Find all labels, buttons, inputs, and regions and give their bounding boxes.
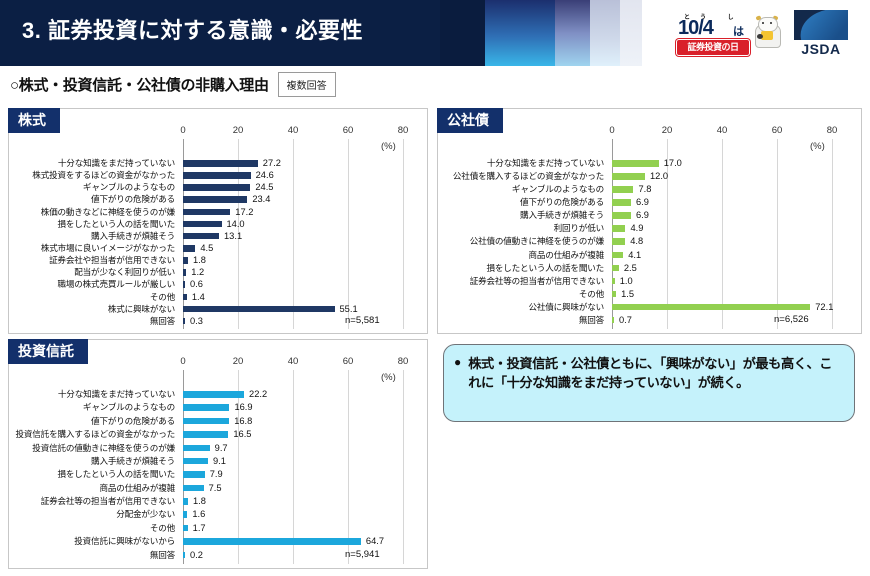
bar bbox=[183, 172, 251, 179]
bar-value-label: 1.2 bbox=[191, 266, 204, 278]
bar-value-label: 1.8 bbox=[193, 495, 206, 507]
bar-category-label: 公社債の値動きに神経を使うのが嫌 bbox=[470, 235, 604, 247]
section-subtitle: ○株式・投資信託・公社債の非購入理由 bbox=[10, 74, 269, 95]
bar-row: 損をしたという人の話を聞いた7.9 bbox=[9, 468, 427, 480]
summary-bullet-icon: ● bbox=[454, 354, 461, 412]
bar-row: 損をしたという人の話を聞いた2.5 bbox=[438, 262, 861, 274]
bar-row: 証券会社等の担当者が信用できない1.8 bbox=[9, 495, 427, 507]
bar-row: ギャンブルのようなもの16.9 bbox=[9, 401, 427, 413]
bar-row: 投資信託に興味がないから64.7 bbox=[9, 535, 427, 547]
bar-value-label: 4.9 bbox=[630, 222, 643, 234]
x-axis-tick-40: 40 bbox=[288, 356, 299, 367]
bar bbox=[183, 418, 229, 425]
bar-value-label: 7.9 bbox=[210, 468, 223, 480]
bar-category-label: 商品の仕組みが複雑 bbox=[528, 249, 604, 261]
bar-row: 公社債を購入するほどの資金がなかった12.0 bbox=[438, 170, 861, 182]
chart-area-stock: 020406080(%)十分な知識をまだ持っていない27.2株式投資をするほどの… bbox=[9, 109, 427, 333]
bar-row: 配当が少なく利回りが低い1.2 bbox=[9, 266, 427, 278]
bar bbox=[183, 404, 229, 411]
bar-value-label: 0.3 bbox=[190, 315, 203, 327]
chart-area-bond: 020406080(%)十分な知識をまだ持っていない17.0公社債を購入するほど… bbox=[438, 109, 861, 333]
summary-callout: ● 株式・投資信託・公社債ともに、「興味がない」が最も高く、これに「十分な知識を… bbox=[443, 344, 855, 422]
chart-area-trust: 020406080(%)十分な知識をまだ持っていない22.2ギャンブルのようなも… bbox=[9, 340, 427, 568]
bar-value-label: 0.7 bbox=[619, 314, 632, 326]
bar-value-label: 13.1 bbox=[224, 230, 242, 242]
section-subtitle-row: ○株式・投資信託・公社債の非購入理由 複数回答 bbox=[10, 72, 336, 97]
bar-category-label: 利回りが低い bbox=[554, 222, 604, 234]
bar bbox=[183, 160, 258, 167]
x-axis-unit-label: (%) bbox=[381, 372, 396, 383]
bar-category-label: 損をしたという人の話を聞いた bbox=[486, 262, 604, 274]
bar bbox=[612, 304, 810, 311]
bar-category-label: 公社債に興味がない bbox=[528, 301, 604, 313]
bar-category-label: 証券会社等の担当者が信用できない bbox=[470, 275, 604, 287]
x-axis-tick-60: 60 bbox=[772, 125, 783, 136]
bar-category-label: その他 bbox=[150, 291, 175, 303]
bar bbox=[183, 471, 205, 478]
bar-category-label: 無回答 bbox=[579, 314, 604, 326]
bar-category-label: 損をしたという人の話を聞いた bbox=[57, 468, 175, 480]
bar bbox=[183, 245, 195, 252]
bar-category-label: 十分な知識をまだ持っていない bbox=[58, 388, 175, 400]
bar bbox=[183, 281, 185, 288]
bar-value-label: 6.9 bbox=[636, 209, 649, 221]
bar bbox=[183, 511, 187, 518]
bar bbox=[183, 485, 204, 492]
bar-category-label: 投資信託の値動きに神経を使うのが嫌 bbox=[32, 442, 175, 454]
bar-value-label: 12.0 bbox=[650, 170, 668, 182]
bar-value-label: 1.0 bbox=[620, 275, 633, 287]
bar bbox=[612, 291, 616, 298]
bar-category-label: 分配金が少ない bbox=[116, 508, 175, 520]
bar-row: 投資信託の値動きに神経を使うのが嫌9.7 bbox=[9, 442, 427, 454]
bar-row: 十分な知識をまだ持っていない22.2 bbox=[9, 388, 427, 400]
x-axis-tick-60: 60 bbox=[343, 356, 354, 367]
summary-text: 株式・投資信託・公社債ともに、「興味がない」が最も高く、これに「十分な知識をまだ… bbox=[468, 354, 842, 412]
bar bbox=[612, 173, 645, 180]
jsda-logo-text: JSDA bbox=[790, 41, 852, 57]
day-particle: は bbox=[733, 23, 744, 39]
bar-row: 証券会社や担当者が信用できない1.8 bbox=[9, 254, 427, 266]
x-axis-tick-0: 0 bbox=[180, 356, 185, 367]
bar-category-label: 十分な知識をまだ持っていない bbox=[58, 157, 175, 169]
page-header: 3. 証券投資に対する意識・必要性 とう し 10/4 は 証券投資の日 JSD… bbox=[0, 0, 870, 66]
bar-category-label: 無回答 bbox=[150, 549, 175, 561]
bar-value-label: 16.9 bbox=[234, 401, 252, 413]
multiple-answer-tag: 複数回答 bbox=[278, 72, 336, 97]
bar-category-label: 投資信託を購入するほどの資金がなかった bbox=[16, 428, 175, 440]
bar bbox=[612, 160, 659, 167]
bar-category-label: 購入手続きが煩雑そう bbox=[91, 230, 175, 242]
bar-value-label: 9.1 bbox=[213, 455, 226, 467]
bar-value-label: 55.1 bbox=[340, 303, 358, 315]
x-axis-tick-40: 40 bbox=[288, 125, 299, 136]
bar-value-label: 24.6 bbox=[256, 169, 274, 181]
chart-panel-bond: 公社債 020406080(%)十分な知識をまだ持っていない17.0公社債を購入… bbox=[437, 108, 862, 334]
bar-row: 十分な知識をまだ持っていない17.0 bbox=[438, 157, 861, 169]
bar-value-label: 1.8 bbox=[193, 254, 206, 266]
bar-value-label: 1.5 bbox=[621, 288, 634, 300]
chart-panel-stock: 株式 020406080(%)十分な知識をまだ持っていない27.2株式投資をする… bbox=[8, 108, 428, 334]
jsda-mark-icon bbox=[794, 10, 848, 40]
bar-row: 証券会社等の担当者が信用できない1.0 bbox=[438, 275, 861, 287]
bar-value-label: 23.4 bbox=[252, 193, 270, 205]
sample-size-label: n=5,581 bbox=[345, 315, 380, 326]
bar bbox=[612, 252, 623, 259]
bar-value-label: 6.9 bbox=[636, 196, 649, 208]
bar bbox=[183, 445, 210, 452]
bar-value-label: 22.2 bbox=[249, 388, 267, 400]
bar-value-label: 0.6 bbox=[190, 278, 203, 290]
bar bbox=[183, 233, 219, 240]
bar bbox=[612, 317, 614, 324]
sample-size-label: n=5,941 bbox=[345, 549, 380, 560]
bar bbox=[183, 525, 188, 532]
bar-value-label: 72.1 bbox=[815, 301, 833, 313]
bar-value-label: 0.2 bbox=[190, 549, 203, 561]
x-axis-tick-20: 20 bbox=[662, 125, 673, 136]
bar bbox=[183, 498, 188, 505]
bar-category-label: 損をしたという人の話を聞いた bbox=[57, 218, 175, 230]
x-axis-unit-label: (%) bbox=[381, 141, 396, 152]
bar-value-label: 4.1 bbox=[628, 249, 641, 261]
x-axis-unit-label: (%) bbox=[810, 141, 825, 152]
x-axis-tick-0: 0 bbox=[609, 125, 614, 136]
bar-value-label: 2.5 bbox=[624, 262, 637, 274]
bar bbox=[612, 225, 625, 232]
bar bbox=[183, 306, 335, 313]
bar-value-label: 16.8 bbox=[234, 415, 252, 427]
bar-row: 株価の動きなどに神経を使うのが嫌17.2 bbox=[9, 206, 427, 218]
bar-category-label: 株式市場に良いイメージがなかった bbox=[41, 242, 175, 254]
bar-value-label: 7.5 bbox=[209, 482, 222, 494]
bar bbox=[183, 209, 230, 216]
x-axis-tick-20: 20 bbox=[233, 125, 244, 136]
bar-value-label: 64.7 bbox=[366, 535, 384, 547]
bar-category-label: 証券会社や担当者が信用できない bbox=[49, 254, 175, 266]
bar bbox=[612, 238, 625, 245]
bar-category-label: 購入手続きが煩雑そう bbox=[520, 209, 604, 221]
bar-category-label: 値下がりの危険がある bbox=[91, 415, 175, 427]
bar-row: 値下がりの危険がある16.8 bbox=[9, 415, 427, 427]
bar-category-label: ギャンブルのようなもの bbox=[83, 401, 175, 413]
bar bbox=[183, 391, 244, 398]
bar-row: 損をしたという人の話を聞いた14.0 bbox=[9, 218, 427, 230]
bar-value-label: 7.8 bbox=[638, 183, 651, 195]
bar bbox=[183, 184, 250, 191]
bar bbox=[612, 199, 631, 206]
bar bbox=[183, 294, 187, 301]
bar-category-label: 株価の動きなどに神経を使うのが嫌 bbox=[41, 206, 175, 218]
bar-category-label: 株式に興味がない bbox=[108, 303, 175, 315]
bar-category-label: 値下がりの危険がある bbox=[520, 196, 604, 208]
bar-category-label: 証券会社等の担当者が信用できない bbox=[41, 495, 175, 507]
x-axis-tick-80: 80 bbox=[398, 125, 409, 136]
bar-category-label: 職場の株式売買ルールが厳しい bbox=[57, 278, 175, 290]
bar bbox=[183, 538, 361, 545]
bar bbox=[183, 269, 186, 276]
bar bbox=[183, 431, 228, 438]
x-axis-tick-80: 80 bbox=[827, 125, 838, 136]
bar bbox=[183, 458, 208, 465]
x-axis-tick-0: 0 bbox=[180, 125, 185, 136]
x-axis-tick-80: 80 bbox=[398, 356, 409, 367]
bar bbox=[612, 212, 631, 219]
bar-value-label: 17.0 bbox=[664, 157, 682, 169]
bar-row: 商品の仕組みが複雑4.1 bbox=[438, 249, 861, 261]
bar-value-label: 4.8 bbox=[630, 235, 643, 247]
bar-row: 十分な知識をまだ持っていない27.2 bbox=[9, 157, 427, 169]
bar-row: 商品の仕組みが複雑7.5 bbox=[9, 482, 427, 494]
bar-category-label: 配当が少なく利回りが低い bbox=[74, 266, 175, 278]
day-banner-label: 証券投資の日 bbox=[676, 39, 750, 56]
bar-category-label: 投資信託に興味がないから bbox=[74, 535, 175, 547]
bar bbox=[183, 257, 188, 264]
bar-row: 公社債の値動きに神経を使うのが嫌4.8 bbox=[438, 235, 861, 247]
bar-category-label: ギャンブルのようなもの bbox=[512, 183, 604, 195]
sample-size-label: n=6,526 bbox=[774, 314, 809, 325]
bar bbox=[183, 221, 222, 228]
bar-value-label: 9.7 bbox=[215, 442, 228, 454]
bar-value-label: 17.2 bbox=[235, 206, 253, 218]
jsda-logo: JSDA bbox=[790, 10, 852, 58]
bar-row: 値下がりの危険がある6.9 bbox=[438, 196, 861, 208]
bar-category-label: 十分な知識をまだ持っていない bbox=[487, 157, 604, 169]
bar-row: 購入手続きが煩雑そう6.9 bbox=[438, 209, 861, 221]
bar-category-label: 公社債を購入するほどの資金がなかった bbox=[453, 170, 604, 182]
bar-category-label: 株式投資をするほどの資金がなかった bbox=[32, 169, 175, 181]
bar-row: その他1.5 bbox=[438, 288, 861, 300]
bar-category-label: 無回答 bbox=[150, 315, 175, 327]
bar bbox=[612, 265, 619, 272]
bar-row: ギャンブルのようなもの24.5 bbox=[9, 181, 427, 193]
bar-row: その他1.4 bbox=[9, 291, 427, 303]
bar-category-label: 商品の仕組みが複雑 bbox=[99, 482, 175, 494]
bar-row: 購入手続きが煩雑そう9.1 bbox=[9, 455, 427, 467]
bar-category-label: 購入手続きが煩雑そう bbox=[91, 455, 175, 467]
bar-value-label: 16.5 bbox=[233, 428, 251, 440]
bar-row: 株式市場に良いイメージがなかった4.5 bbox=[9, 242, 427, 254]
bar-value-label: 4.5 bbox=[200, 242, 213, 254]
bar-value-label: 1.6 bbox=[192, 508, 205, 520]
bar-row: 分配金が少ない1.6 bbox=[9, 508, 427, 520]
bar-category-label: その他 bbox=[150, 522, 175, 534]
x-axis-tick-20: 20 bbox=[233, 356, 244, 367]
bar-row: 購入手続きが煩雑そう13.1 bbox=[9, 230, 427, 242]
bar bbox=[183, 552, 185, 559]
bar bbox=[183, 196, 247, 203]
cow-mascot-icon bbox=[752, 14, 782, 56]
bar-row: 公社債に興味がない72.1 bbox=[438, 301, 861, 313]
day-number: 10/4 bbox=[678, 17, 713, 40]
bar-row: 値下がりの危険がある23.4 bbox=[9, 193, 427, 205]
x-axis-tick-60: 60 bbox=[343, 125, 354, 136]
bar-category-label: 値下がりの危険がある bbox=[91, 193, 175, 205]
x-axis-tick-40: 40 bbox=[717, 125, 728, 136]
bar-value-label: 1.7 bbox=[193, 522, 206, 534]
bar-row: 株式投資をするほどの資金がなかった24.6 bbox=[9, 169, 427, 181]
bar-value-label: 27.2 bbox=[263, 157, 281, 169]
bar-row: その他1.7 bbox=[9, 522, 427, 534]
bar-row: ギャンブルのようなもの7.8 bbox=[438, 183, 861, 195]
bar bbox=[612, 186, 633, 193]
bar-row: 株式に興味がない55.1 bbox=[9, 303, 427, 315]
bar-value-label: 14.0 bbox=[227, 218, 245, 230]
bar bbox=[183, 318, 185, 325]
bar-value-label: 24.5 bbox=[255, 181, 273, 193]
bar-row: 投資信託を購入するほどの資金がなかった16.5 bbox=[9, 428, 427, 440]
bar-value-label: 1.4 bbox=[192, 291, 205, 303]
bar bbox=[612, 278, 615, 285]
bar-category-label: その他 bbox=[579, 288, 604, 300]
bar-category-label: ギャンブルのようなもの bbox=[83, 181, 175, 193]
page-title: 3. 証券投資に対する意識・必要性 bbox=[22, 13, 363, 45]
bar-row: 職場の株式売買ルールが厳しい0.6 bbox=[9, 278, 427, 290]
chart-panel-trust: 投資信託 020406080(%)十分な知識をまだ持っていない22.2ギャンブル… bbox=[8, 339, 428, 569]
bar-row: 利回りが低い4.9 bbox=[438, 222, 861, 234]
